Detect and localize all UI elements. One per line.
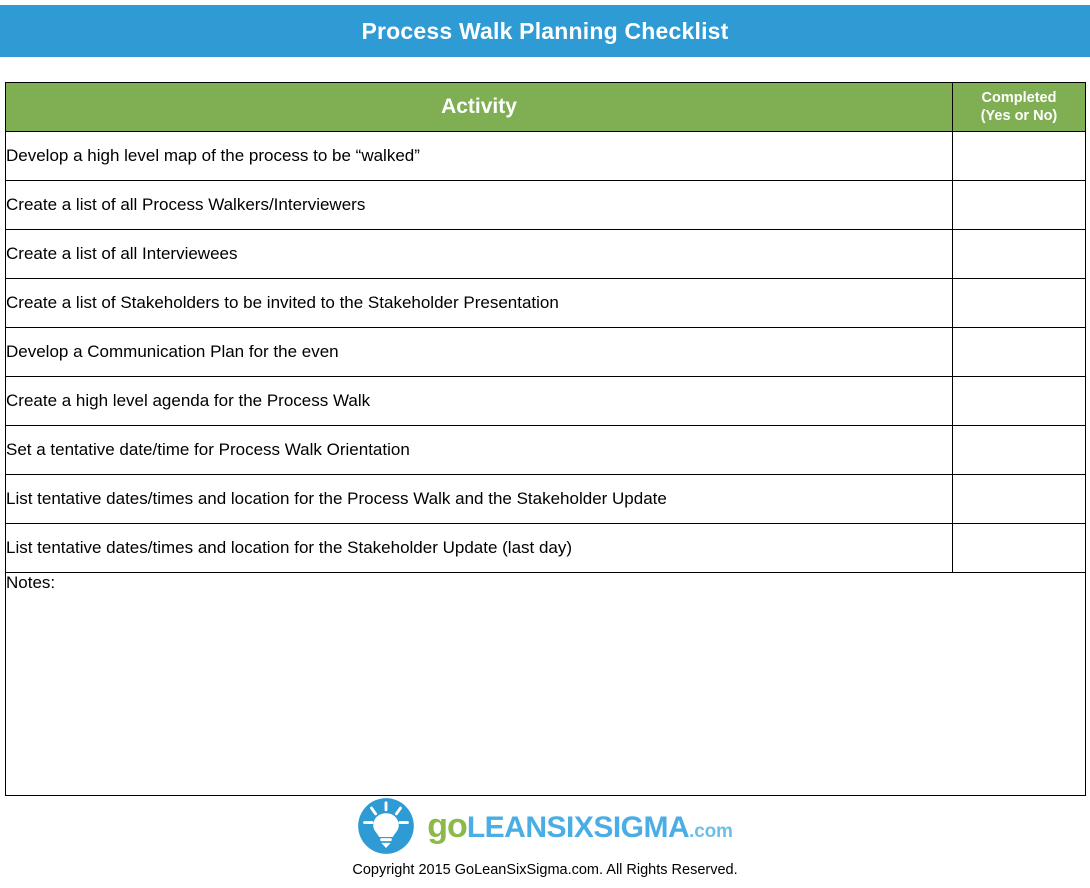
table-row: Create a list of all Process Walkers/Int… [6,181,1086,230]
activity-label: Set a tentative date/time for Process Wa… [6,426,953,475]
table-row: Develop a Communication Plan for the eve… [6,328,1086,377]
page-title: Process Walk Planning Checklist [361,20,728,43]
activity-label: Create a list of Stakeholders to be invi… [6,279,953,328]
completed-input[interactable] [953,328,1086,377]
brand-logo: goLEANSIXSIGMA.com [357,795,732,857]
completed-input[interactable] [953,279,1086,328]
table-row: List tentative dates/times and location … [6,475,1086,524]
table-row: Create a high level agenda for the Proce… [6,377,1086,426]
table-header-row: Activity Completed (Yes or No) [6,83,1086,132]
brand-wordmark: goLEANSIXSIGMA.com [427,809,732,843]
completed-input[interactable] [953,524,1086,573]
table-row: List tentative dates/times and location … [6,524,1086,573]
notes-row: Notes: [6,573,1086,796]
checklist-table: Activity Completed (Yes or No) Develop a… [5,82,1086,796]
lightbulb-in-circle-icon [357,797,415,855]
table-row: Create a list of Stakeholders to be invi… [6,279,1086,328]
copyright-text: Copyright 2015 GoLeanSixSigma.com. All R… [352,862,737,879]
activity-label: Create a list of all Process Walkers/Int… [6,181,953,230]
completed-input[interactable] [953,132,1086,181]
table-row: Create a list of all Interviewees [6,230,1086,279]
column-header-activity: Activity [6,83,953,132]
column-header-activity-label: Activity [441,95,517,118]
activity-label: List tentative dates/times and location … [6,475,953,524]
brand-wordmark-go: go [427,807,467,845]
activity-label: Create a list of all Interviewees [6,230,953,279]
completed-input[interactable] [953,475,1086,524]
activity-label: Create a high level agenda for the Proce… [6,377,953,426]
column-header-completed-label-line2: (Yes or No) [953,107,1085,125]
completed-input[interactable] [953,230,1086,279]
table-header: Activity Completed (Yes or No) [6,83,1086,132]
brand-wordmark-dotcom: .com [689,821,733,842]
table-row: Set a tentative date/time for Process Wa… [6,426,1086,475]
completed-input[interactable] [953,181,1086,230]
notes-field[interactable]: Notes: [6,573,1086,796]
column-header-completed-label-line1: Completed [953,89,1085,107]
activity-label: List tentative dates/times and location … [6,524,953,573]
table-body: Develop a high level map of the process … [6,132,1086,796]
completed-input[interactable] [953,426,1086,475]
column-header-completed: Completed (Yes or No) [953,83,1086,132]
footer: goLEANSIXSIGMA.com Copyright 2015 GoLean… [0,795,1090,879]
table-row: Develop a high level map of the process … [6,132,1086,181]
activity-label: Develop a high level map of the process … [6,132,953,181]
brand-wordmark-lean: LEANSIXSIGMA [467,811,689,844]
title-banner: Process Walk Planning Checklist [0,5,1090,57]
activity-label: Develop a Communication Plan for the eve… [6,328,953,377]
notes-label: Notes: [6,573,55,592]
completed-input[interactable] [953,377,1086,426]
